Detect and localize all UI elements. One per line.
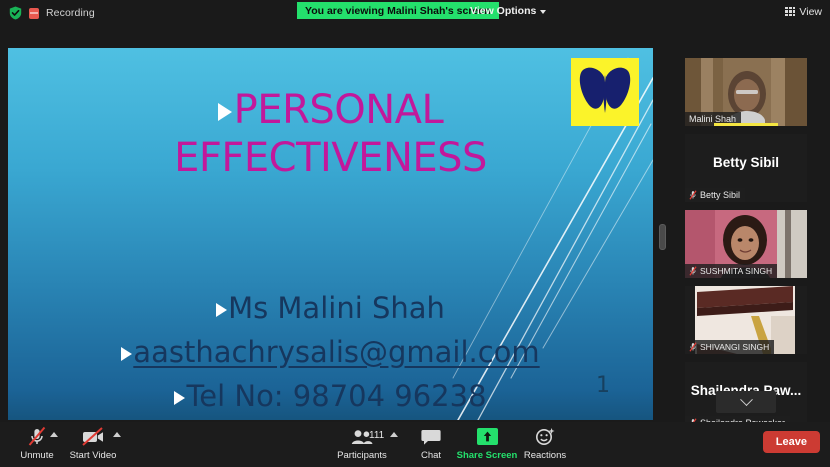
top-bar: Recording You are viewing Malini Shah's …	[0, 0, 830, 26]
triangle-bullet-icon	[121, 347, 132, 361]
chat-button[interactable]: Chat	[399, 426, 463, 461]
triangle-bullet-icon	[216, 303, 227, 317]
participant-name-bar: Betty Sibil	[685, 188, 745, 202]
microphone-muted-icon	[689, 190, 697, 200]
participant-name: SHIVANGI SINGH	[700, 342, 769, 352]
participant-tile[interactable]: Betty Sibil Betty Sibil	[685, 134, 807, 202]
participants-count: 111	[369, 430, 384, 441]
participant-tile[interactable]: SHIVANGI SINGH	[685, 286, 807, 354]
slide-title: PERSONAL EFFECTIVENESS	[8, 86, 653, 182]
grid-icon	[785, 7, 795, 17]
slide-body-line-3: Tel No: 98704 96238	[8, 374, 653, 418]
participant-video-strip[interactable]: Malini Shah Betty Sibil Betty Sibil	[685, 58, 807, 420]
recording-label: Recording	[46, 7, 95, 19]
smiley-reactions-icon	[535, 426, 555, 447]
chat-label: Chat	[421, 450, 441, 461]
unmute-label: Unmute	[20, 450, 53, 461]
participants-button[interactable]: Participants	[330, 426, 394, 461]
camera-off-icon	[81, 426, 105, 447]
slide-presenter-email: aasthachrysalis@gmail.com	[133, 335, 539, 369]
start-video-label: Start Video	[70, 450, 117, 461]
view-layout-button[interactable]: View	[785, 3, 822, 20]
slide-presenter-name: Ms Malini Shah	[228, 291, 445, 325]
triangle-bullet-icon	[218, 103, 232, 121]
slide-body-line-2: aasthachrysalis@gmail.com	[8, 330, 653, 374]
view-options-button[interactable]: View Options	[463, 2, 553, 19]
panel-resize-handle[interactable]	[659, 224, 666, 250]
presentation-slide: PERSONAL EFFECTIVENESS Ms Malini Shah aa…	[8, 48, 653, 420]
participant-name: SUSHMITA SINGH	[700, 266, 772, 276]
reactions-button[interactable]: Reactions	[513, 426, 577, 461]
view-options-label: View Options	[470, 5, 536, 17]
reactions-label: Reactions	[524, 450, 566, 461]
top-bar-left: Recording	[0, 6, 95, 20]
microphone-muted-icon	[689, 266, 697, 276]
video-options-chevron-up-icon[interactable]	[113, 432, 121, 437]
meeting-controls-toolbar: Unmute Start Video	[0, 422, 830, 467]
slide-presenter-phone: Tel No: 98704 96238	[186, 379, 486, 413]
participants-chevron-up-icon[interactable]	[390, 432, 398, 437]
unmute-button[interactable]: Unmute	[5, 426, 69, 461]
slide-number: 1	[596, 373, 610, 398]
participant-name-bar: SUSHMITA SINGH	[685, 264, 777, 278]
microphone-muted-icon	[27, 426, 47, 447]
slide-title-line-1: PERSONAL	[8, 86, 653, 134]
chevron-down-icon	[540, 10, 546, 14]
slide-title-text-2: EFFECTIVENESS	[174, 135, 487, 181]
scroll-down-button[interactable]	[716, 391, 776, 413]
slide-title-line-2: EFFECTIVENESS	[8, 134, 653, 182]
shared-screen-area[interactable]: PERSONAL EFFECTIVENESS Ms Malini Shah aa…	[8, 48, 653, 420]
zoom-meeting-window: Recording You are viewing Malini Shah's …	[0, 0, 830, 467]
share-screen-up-arrow-icon	[477, 426, 498, 447]
slide-title-text-1: PERSONAL	[234, 87, 444, 133]
share-screen-label: Share Screen	[457, 450, 518, 461]
participants-label: Participants	[337, 450, 387, 461]
slide-body: Ms Malini Shah aasthachrysalis@gmail.com…	[8, 286, 653, 418]
participant-name-bar: SHIVANGI SINGH	[685, 340, 774, 354]
audio-options-chevron-up-icon[interactable]	[50, 432, 58, 437]
chevron-down-icon	[740, 393, 753, 406]
participant-tile-active-speaker[interactable]: SUSHMITA SINGH	[685, 210, 807, 278]
triangle-bullet-icon	[174, 391, 185, 405]
view-button-label: View	[799, 6, 822, 18]
participant-tile[interactable]: Malini Shah	[685, 58, 807, 126]
share-screen-button[interactable]: Share Screen	[455, 426, 519, 461]
microphone-muted-icon	[689, 342, 697, 352]
recording-indicator-icon[interactable]	[29, 8, 39, 19]
chat-bubble-icon	[421, 426, 441, 447]
slide-body-line-1: Ms Malini Shah	[8, 286, 653, 330]
green-shield-check-icon[interactable]	[9, 6, 22, 20]
participant-name: Betty Sibil	[700, 190, 740, 200]
leave-button[interactable]: Leave	[763, 431, 820, 453]
speaking-indicator-bar	[714, 123, 777, 126]
